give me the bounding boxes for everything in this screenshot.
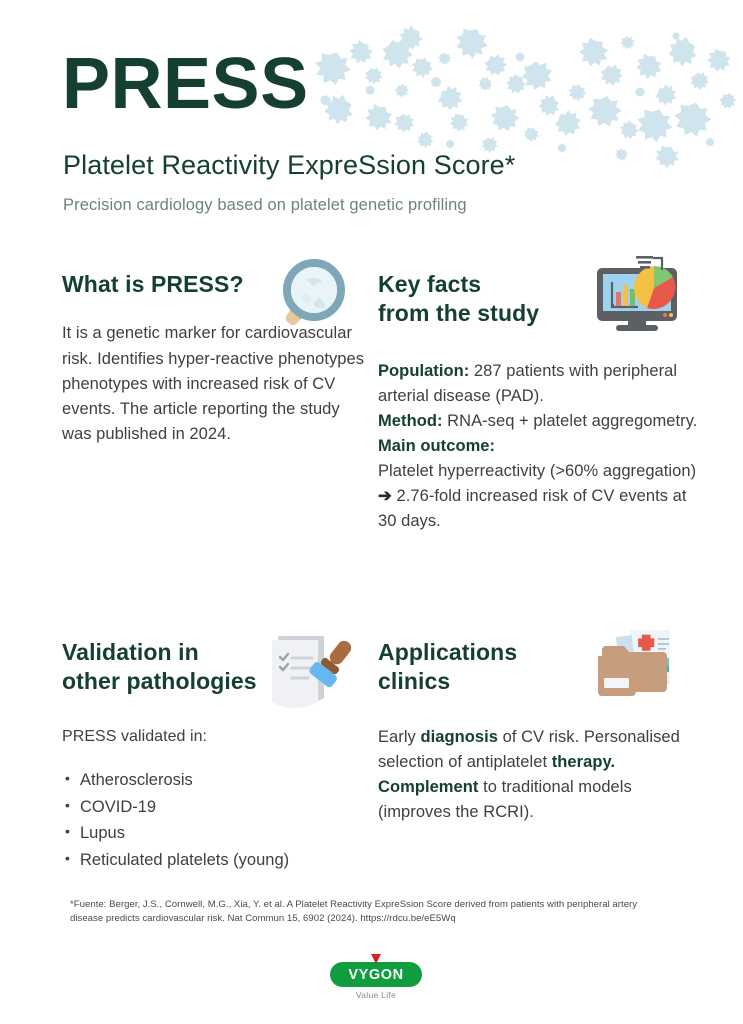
section-body-applications: Early diagnosis of CV risk. Personalised… bbox=[378, 725, 698, 825]
list-item: Lupus bbox=[62, 820, 372, 847]
key-fact-value-method: RNA-seq + platelet aggregometry. bbox=[443, 412, 698, 430]
applications-heading-line1: Applications bbox=[378, 639, 517, 665]
key-fact-outcome-part1: Platelet hyperreactivity (>60% aggregati… bbox=[378, 462, 696, 480]
key-facts-heading-line2: from the study bbox=[378, 300, 539, 326]
droplet-icon bbox=[371, 954, 381, 964]
key-fact-label-method: Method: bbox=[378, 412, 443, 430]
infographic-page: PRESS Platelet Reactivity ExpreSsion Sco… bbox=[0, 0, 743, 1024]
list-item: COVID-19 bbox=[62, 794, 372, 821]
section-what-is-press: What is PRESS? It is a genetic marker fo… bbox=[62, 270, 372, 447]
page-tagline: Precision cardiology based on platelet g… bbox=[63, 196, 467, 215]
applications-bold-therapy: therapy. bbox=[552, 753, 615, 771]
section-applications: Applications clinics Early diagnosis of … bbox=[378, 638, 698, 825]
section-validation: Validation in other pathologies PRESS va… bbox=[62, 638, 372, 874]
page-title: PRESS bbox=[62, 48, 309, 120]
validation-heading-line2: other pathologies bbox=[62, 668, 257, 694]
applications-heading-line2: clinics bbox=[378, 668, 450, 694]
section-heading-what-is-press: What is PRESS? bbox=[62, 270, 372, 299]
applications-bold-complement: Complement bbox=[378, 778, 478, 796]
key-fact-outcome-part2: 2.76-fold increased risk of CV events at… bbox=[378, 487, 687, 530]
key-fact-label-population: Population: bbox=[378, 362, 469, 380]
list-item: Reticulated platelets (young) bbox=[62, 847, 372, 874]
section-heading-key-facts: Key facts from the study bbox=[378, 270, 698, 329]
key-fact-label-main-outcome: Main outcome: bbox=[378, 437, 495, 455]
header: PRESS Platelet Reactivity ExpreSsion Sco… bbox=[0, 0, 743, 235]
section-body-key-facts: Population: 287 patients with peripheral… bbox=[378, 359, 698, 535]
section-heading-applications: Applications clinics bbox=[378, 638, 698, 697]
source-footnote: *Fuente: Berger, J.S., Cornwell, M.G., X… bbox=[70, 898, 670, 926]
vygon-logo: VYGON Value Life bbox=[330, 962, 422, 1000]
arrow-icon: ➔ bbox=[378, 487, 392, 505]
list-item: Atherosclerosis bbox=[62, 767, 372, 794]
logo-wordmark: VYGON bbox=[348, 967, 403, 983]
section-key-facts: Key facts from the study Population: 287… bbox=[378, 270, 698, 534]
applications-text-1: Early bbox=[378, 728, 420, 746]
section-heading-validation: Validation in other pathologies bbox=[62, 638, 372, 697]
key-facts-heading-line1: Key facts bbox=[378, 271, 481, 297]
validation-lead-text: PRESS validated in: bbox=[62, 725, 372, 749]
validation-list: Atherosclerosis COVID-19 Lupus Reticulat… bbox=[62, 767, 372, 874]
what-is-press-text-line: It is a genetic marker for cardiovascula… bbox=[62, 324, 364, 442]
logo-tagline: Value Life bbox=[330, 990, 422, 1000]
applications-bold-diagnosis: diagnosis bbox=[420, 728, 497, 746]
validation-heading-line1: Validation in bbox=[62, 639, 199, 665]
logo-pill: VYGON bbox=[330, 962, 422, 987]
section-body-what-is-press: It is a genetic marker for cardiovascula… bbox=[62, 321, 372, 446]
page-subtitle: Platelet Reactivity ExpreSsion Score* bbox=[63, 150, 515, 181]
